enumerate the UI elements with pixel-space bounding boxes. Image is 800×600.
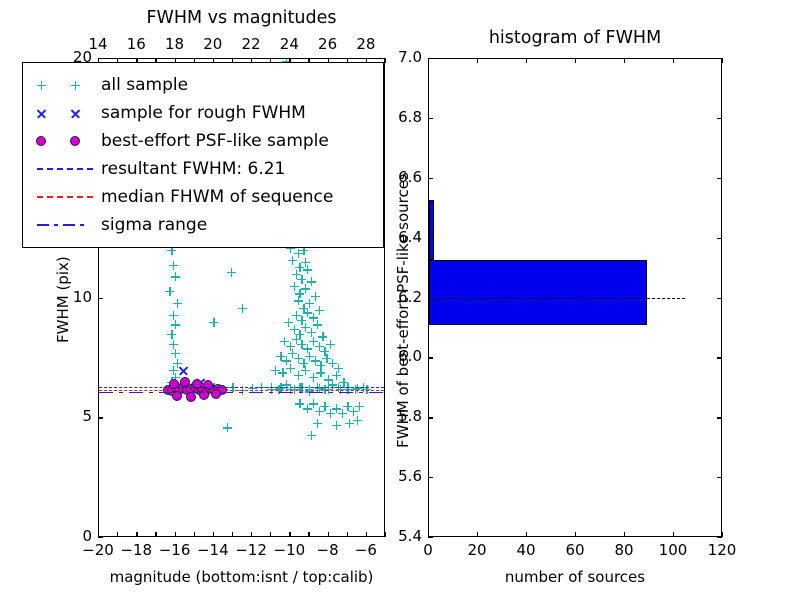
axis-tick-mark — [428, 357, 433, 358]
scatter-marker-all-sample — [169, 340, 178, 349]
scatter-marker-all-sample — [297, 316, 306, 325]
scatter-marker-all-sample — [303, 308, 312, 317]
scatter-marker-all-sample — [171, 272, 180, 281]
scatter-marker-all-sample — [295, 289, 304, 298]
scatter-marker-all-sample — [316, 361, 325, 370]
right-ytick-label: 5.4 — [362, 527, 422, 545]
scatter-marker-all-sample — [290, 282, 299, 291]
axis-tick-mark — [213, 532, 214, 537]
scatter-marker-all-sample — [297, 275, 306, 284]
legend-dashed-line-icon — [37, 168, 93, 170]
left-x-axis-label: magnitude (bottom:isnt / top:calib) — [110, 568, 374, 586]
axis-tick-mark — [428, 118, 433, 119]
legend-item[interactable]: all sample — [29, 71, 377, 99]
scatter-marker-all-sample — [307, 328, 316, 337]
scatter-marker-all-sample — [313, 419, 322, 428]
scatter-marker-all-sample — [309, 399, 318, 408]
legend-swatch — [29, 73, 101, 97]
legend-plus-icon — [71, 81, 80, 90]
scatter-marker-all-sample — [295, 263, 304, 272]
axis-tick-mark — [477, 58, 478, 63]
legend-item[interactable]: sigma range — [29, 211, 377, 239]
scatter-marker-all-sample — [315, 342, 324, 351]
legend-item-label: all sample — [101, 75, 188, 95]
scatter-marker-all-sample — [339, 378, 348, 387]
legend-item-label: best-effort PSF-like sample — [101, 131, 329, 151]
axis-tick-mark — [717, 298, 722, 299]
scatter-marker-all-sample — [173, 299, 182, 308]
scatter-marker-all-sample — [171, 320, 180, 329]
scatter-marker-all-sample — [223, 423, 232, 432]
axis-tick-mark — [136, 532, 137, 537]
scatter-marker-all-sample — [320, 347, 329, 356]
scatter-marker-rough-fwhm — [178, 365, 189, 376]
scatter-marker-all-sample — [332, 421, 341, 430]
scatter-marker-all-sample — [332, 404, 341, 413]
axis-tick-mark — [624, 58, 625, 63]
legend-dot-icon — [70, 136, 80, 146]
legend-item-label: resultant FWHM: 6.21 — [101, 159, 285, 179]
legend-item[interactable]: sample for rough FWHM — [29, 99, 377, 127]
axis-tick-mark — [428, 537, 433, 538]
axis-tick-mark — [308, 532, 309, 537]
legend-dot-icon — [36, 136, 46, 146]
axis-tick-mark — [717, 238, 722, 239]
scatter-marker-all-sample — [332, 371, 341, 380]
scatter-marker-all-sample — [294, 371, 303, 380]
axis-tick-mark — [428, 298, 433, 299]
axis-tick-mark — [117, 532, 118, 537]
legend-swatch — [29, 129, 101, 153]
axis-tick-mark — [428, 58, 433, 59]
axis-tick-mark — [673, 532, 674, 537]
axis-tick-mark — [428, 178, 433, 179]
scatter-marker-all-sample — [297, 340, 306, 349]
axis-tick-mark — [428, 477, 433, 478]
scatter-marker-all-sample — [301, 284, 310, 293]
scatter-marker-all-sample — [309, 313, 318, 322]
axis-tick-mark — [428, 238, 433, 239]
scatter-marker-all-sample — [324, 375, 333, 384]
scatter-marker-all-sample — [294, 354, 303, 363]
scatter-marker-all-sample — [311, 356, 320, 365]
scatter-marker-all-sample — [299, 304, 308, 313]
scatter-marker-all-sample — [338, 409, 347, 418]
axis-tick-mark — [575, 58, 576, 63]
scatter-marker-all-sample — [320, 402, 329, 411]
scatter-marker-all-sample — [303, 344, 312, 353]
axis-tick-mark — [673, 58, 674, 63]
scatter-marker-all-sample — [295, 399, 304, 408]
legend-dashdot-line-icon — [37, 224, 93, 226]
legend-plus-icon — [37, 81, 46, 90]
axis-tick-mark — [98, 58, 103, 59]
axis-tick-mark — [98, 298, 103, 299]
right-ytick-label: 5.8 — [362, 407, 422, 425]
scatter-marker-all-sample — [284, 318, 293, 327]
scatter-marker-all-sample — [315, 306, 324, 315]
legend-cross-icon — [70, 108, 81, 119]
axis-tick-mark — [717, 417, 722, 418]
axis-tick-mark — [717, 477, 722, 478]
axis-tick-mark — [722, 532, 723, 537]
right-plot-title: histogram of FWHM — [428, 28, 722, 48]
histogram-bar — [429, 260, 647, 326]
legend-swatch — [29, 101, 101, 125]
legend-dashed-line-icon — [37, 196, 93, 198]
axis-tick-mark — [98, 537, 103, 538]
scatter-marker-all-sample — [307, 277, 316, 286]
scatter-marker-all-sample — [353, 416, 362, 425]
resultant-fwhm-line — [99, 387, 384, 388]
scatter-marker-all-sample — [290, 325, 299, 334]
legend-item[interactable]: resultant FWHM: 6.21 — [29, 155, 377, 183]
scatter-marker-all-sample — [303, 265, 312, 274]
axis-tick-mark — [722, 58, 723, 63]
scatter-marker-all-sample — [307, 431, 316, 440]
legend-swatch — [29, 213, 101, 237]
axis-tick-mark — [98, 417, 103, 418]
scatter-marker-all-sample — [299, 359, 308, 368]
left-y-axis-label: FWHM (pix) — [54, 256, 72, 343]
left-ytick-label: 0 — [32, 527, 92, 545]
scatter-marker-all-sample — [288, 256, 297, 265]
scatter-marker-all-sample — [165, 287, 174, 296]
scatter-marker-all-sample — [292, 335, 301, 344]
scatter-marker-all-sample — [326, 340, 335, 349]
scatter-marker-all-sample — [286, 342, 295, 351]
axis-tick-mark — [717, 357, 722, 358]
axis-tick-mark — [526, 532, 527, 537]
scatter-marker-all-sample — [227, 268, 236, 277]
axis-tick-mark — [526, 58, 527, 63]
axis-tick-mark — [717, 537, 722, 538]
axis-tick-mark — [270, 532, 271, 537]
left-ytick-label: 5 — [32, 407, 92, 425]
scatter-marker-all-sample — [326, 409, 335, 418]
right-y-axis-label: FWHM of best-effort PSF-like sources — [394, 172, 412, 448]
axis-tick-mark — [194, 532, 195, 537]
scatter-marker-all-sample — [301, 366, 310, 375]
scatter-marker-all-sample — [282, 356, 291, 365]
scatter-marker-all-sample — [316, 368, 325, 377]
axis-tick-mark — [175, 532, 176, 537]
right-ytick-label: 5.6 — [362, 467, 422, 485]
figure-canvas: FWHM vs magnitudes −20−18−16−14−12−10−8−… — [0, 0, 800, 600]
scatter-marker-all-sample — [288, 349, 297, 358]
scatter-marker-all-sample — [169, 311, 178, 320]
right-x-axis-label: number of sources — [505, 568, 645, 586]
scatter-marker-all-sample — [169, 261, 178, 270]
scatter-marker-all-sample — [271, 366, 280, 375]
legend-item-label: sample for rough FWHM — [101, 103, 306, 123]
scatter-marker-all-sample — [286, 364, 295, 373]
scatter-marker-all-sample — [315, 407, 324, 416]
scatter-marker-all-sample — [167, 330, 176, 339]
legend-item-label: sigma range — [101, 215, 207, 235]
legend-cross-icon — [36, 108, 47, 119]
legend-item[interactable]: median FHWM of sequence — [29, 183, 377, 211]
scatter-marker-all-sample — [292, 311, 301, 320]
axis-tick-mark — [575, 532, 576, 537]
scatter-marker-all-sample — [171, 349, 180, 358]
axis-tick-mark — [251, 532, 252, 537]
axis-tick-mark — [717, 178, 722, 179]
axis-tick-mark — [232, 532, 233, 537]
histogram-median-line — [428, 298, 685, 299]
scatter-marker-all-sample — [349, 407, 358, 416]
axis-tick-mark — [347, 532, 348, 537]
left-plot-title: FWHM vs magnitudes — [98, 8, 385, 28]
scatter-marker-all-sample — [305, 352, 314, 361]
scatter-marker-all-sample — [311, 292, 320, 301]
sigma-range-line — [99, 392, 384, 394]
scatter-marker-all-sample — [309, 373, 318, 382]
axis-tick-mark — [155, 532, 156, 537]
legend-box: all samplesample for rough FWHMbest-effo… — [22, 62, 384, 248]
scatter-marker-all-sample — [294, 249, 303, 258]
scatter-marker-all-sample — [295, 330, 304, 339]
scatter-marker-all-sample — [276, 352, 285, 361]
scatter-marker-all-sample — [294, 296, 303, 305]
scatter-marker-all-sample — [343, 402, 352, 411]
legend-item[interactable]: best-effort PSF-like sample — [29, 127, 377, 155]
scatter-marker-all-sample — [301, 258, 310, 267]
axis-tick-mark — [289, 532, 290, 537]
legend-swatch — [29, 185, 101, 209]
scatter-marker-all-sample — [301, 323, 310, 332]
right-ytick-label: 6.2 — [362, 288, 422, 306]
scatter-marker-all-sample — [345, 419, 354, 428]
scatter-marker-all-sample — [322, 354, 331, 363]
scatter-marker-all-sample — [303, 404, 312, 413]
scatter-marker-all-sample — [328, 359, 337, 368]
scatter-marker-all-sample — [238, 304, 247, 313]
scatter-marker-all-sample — [305, 299, 314, 308]
axis-tick-mark — [328, 532, 329, 537]
axis-tick-mark — [717, 58, 722, 59]
legend-swatch — [29, 157, 101, 181]
scatter-marker-all-sample — [209, 318, 218, 327]
right-xtick-label: 120 — [692, 541, 752, 559]
axis-tick-mark — [624, 532, 625, 537]
scatter-marker-all-sample — [292, 270, 301, 279]
axis-tick-mark — [428, 417, 433, 418]
scatter-marker-all-sample — [278, 368, 287, 377]
scatter-marker-all-sample — [309, 337, 318, 346]
scatter-marker-all-sample — [318, 332, 327, 341]
right-ytick-label: 6.0 — [362, 347, 422, 365]
scatter-marker-all-sample — [280, 337, 289, 346]
legend-item-label: median FHWM of sequence — [101, 187, 333, 207]
axis-tick-mark — [477, 532, 478, 537]
scatter-marker-all-sample — [334, 364, 343, 373]
scatter-marker-all-sample — [313, 320, 322, 329]
histogram-bar — [429, 200, 434, 260]
axis-tick-mark — [717, 118, 722, 119]
